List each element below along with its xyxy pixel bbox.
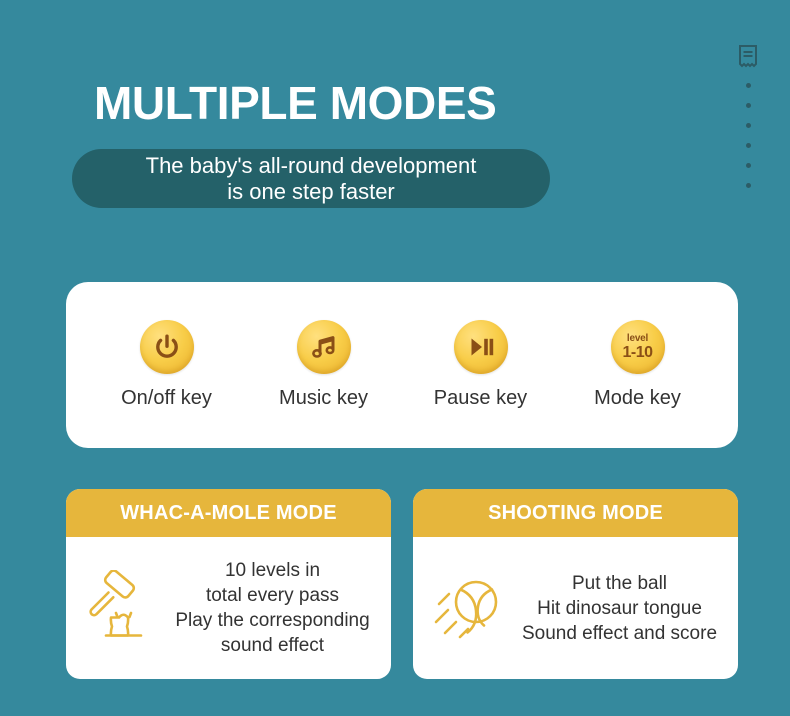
page-title: MULTIPLE MODES xyxy=(94,78,496,129)
mode-button[interactable]: level 1-10 xyxy=(611,320,665,374)
key-label: Mode key xyxy=(594,387,681,410)
mode-description: Put the ball Hit dinosaur tongue Sound e… xyxy=(513,571,726,646)
mode-title: SHOOTING MODE xyxy=(488,502,663,525)
power-button[interactable] xyxy=(140,320,194,374)
mode-card-body: 10 levels in total every pass Play the c… xyxy=(66,537,391,679)
mode-title: WHAC-A-MOLE MODE xyxy=(120,502,337,525)
receipt-icon xyxy=(737,44,759,68)
rail-dot xyxy=(746,183,751,188)
key-item-music[interactable]: Music key xyxy=(249,320,399,410)
mode-icon-wrap xyxy=(80,570,166,646)
level-word: level xyxy=(627,334,648,344)
mode-description: 10 levels in total every pass Play the c… xyxy=(166,558,379,658)
poster-canvas: MULTIPLE MODES The baby's all-round deve… xyxy=(0,0,790,716)
subtitle-pill: The baby's all-round development is one … xyxy=(72,149,550,208)
power-icon xyxy=(152,332,182,362)
subtitle-text: The baby's all-round development is one … xyxy=(146,153,477,205)
key-item-mode[interactable]: level 1-10 Mode key xyxy=(563,320,713,410)
key-item-onoff[interactable]: On/off key xyxy=(92,320,242,410)
keys-card: On/off key Music key Paus xyxy=(66,282,738,448)
pause-button[interactable] xyxy=(454,320,508,374)
key-label: Music key xyxy=(279,387,368,410)
mode-card-body: Put the ball Hit dinosaur tongue Sound e… xyxy=(413,537,738,679)
key-label: Pause key xyxy=(434,387,527,410)
play-pause-icon xyxy=(466,332,496,362)
mode-icon-wrap xyxy=(427,570,513,646)
level-badge-icon: level 1-10 xyxy=(622,334,652,361)
rail-dot xyxy=(746,143,751,148)
mode-card-whac-a-mole: WHAC-A-MOLE MODE xyxy=(66,489,391,679)
rail-dot xyxy=(746,123,751,128)
mode-card-header: WHAC-A-MOLE MODE xyxy=(66,489,391,537)
rail-dot xyxy=(746,163,751,168)
mode-card-header: SHOOTING MODE xyxy=(413,489,738,537)
rail-dot xyxy=(746,103,751,108)
decorative-rail xyxy=(735,44,761,188)
mode-cards: WHAC-A-MOLE MODE xyxy=(66,489,738,679)
music-button[interactable] xyxy=(297,320,351,374)
music-note-icon xyxy=(309,332,339,362)
key-item-pause[interactable]: Pause key xyxy=(406,320,556,410)
mallet-mole-icon xyxy=(86,570,160,646)
level-range: 1-10 xyxy=(622,345,652,361)
mode-card-shooting: SHOOTING MODE xyxy=(413,489,738,679)
flying-ball-icon xyxy=(433,570,507,646)
key-label: On/off key xyxy=(121,387,212,410)
rail-dot xyxy=(746,83,751,88)
